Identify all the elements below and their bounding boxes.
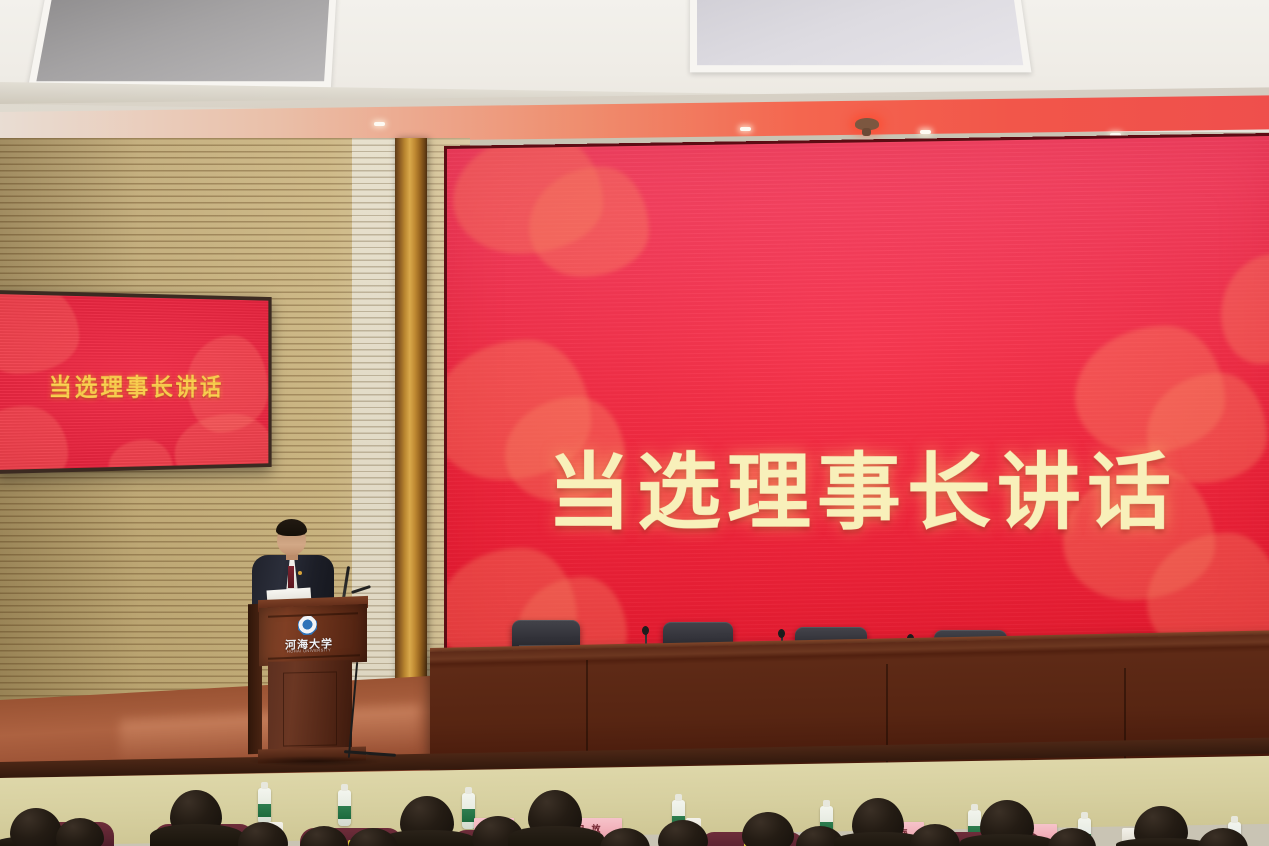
ceiling-camera-icon (855, 118, 879, 130)
ceiling-acoustic-panel-right (690, 0, 1032, 72)
speaker-lapel-pin (298, 571, 302, 575)
audience-shoulders (150, 824, 244, 846)
audience-shoulders (960, 834, 1054, 846)
side-monitor-display[interactable]: 当选理事长讲话 (0, 290, 272, 474)
back-wall-light-slats (352, 138, 400, 768)
audience-shoulders (1116, 838, 1208, 846)
led-wall-headline: 当选理事长讲话 (447, 450, 1269, 534)
monitor-floral-motif (0, 290, 79, 374)
led-floral-motif (1221, 253, 1269, 364)
monitor-headline: 当选理事长讲话 (0, 368, 268, 404)
speaker-tie (288, 566, 294, 588)
monitor-floral-motif (109, 439, 173, 474)
audience-shoulders (508, 826, 604, 846)
ceiling-acoustic-panel-left (28, 0, 337, 88)
water-bottle (258, 788, 271, 824)
conference-hall-photo: 当选理事长讲话 当选理事长讲话 (0, 0, 1269, 846)
podium-shadow (250, 756, 380, 766)
water-bottle (338, 790, 351, 826)
monitor-floral-motif (0, 406, 68, 474)
gold-curtain (395, 138, 427, 770)
monitor-floral-motif (175, 413, 272, 474)
led-video-wall[interactable]: 当选理事长讲话 (444, 133, 1269, 669)
podium-column-inset (283, 671, 337, 746)
ceiling-spotlight (374, 122, 385, 126)
ceiling-spotlight (740, 127, 751, 131)
table-microphone-head (642, 626, 649, 635)
speaker-hair (276, 519, 307, 536)
ceiling-spotlight (920, 130, 931, 134)
head-table-seam (586, 660, 588, 764)
table-microphone-head (778, 629, 785, 638)
